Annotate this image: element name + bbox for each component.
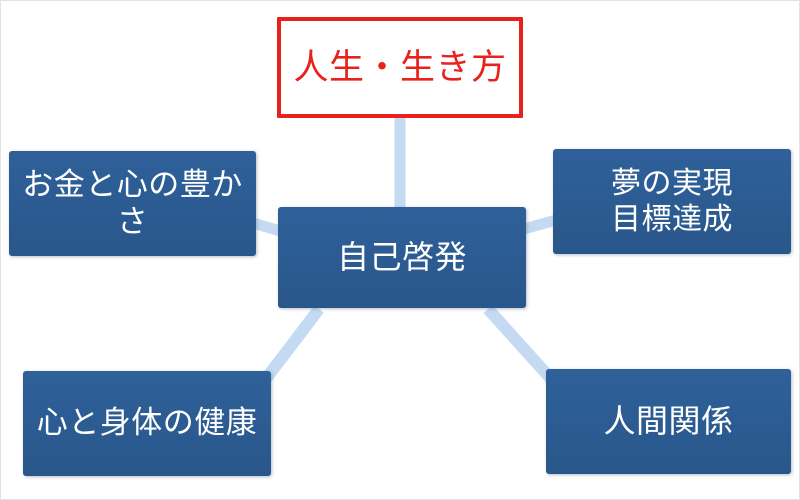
node-money-and-heart-richness[interactable]: お金と心の豊かさ <box>9 151 256 256</box>
connector-center-to-money <box>253 223 280 231</box>
diagram-canvas: 人生・生き方 自己啓発 お金と心の豊かさ 夢の実現 目標達成 心と身体の健康 人… <box>0 0 800 500</box>
node-life-and-way-of-living[interactable]: 人生・生き方 <box>277 17 523 118</box>
node-mind-and-body-health[interactable]: 心と身体の健康 <box>23 371 271 476</box>
connector-center-to-dreams <box>524 220 556 229</box>
node-self-development-center[interactable]: 自己啓発 <box>278 207 526 308</box>
node-life-label: 人生・生き方 <box>293 47 506 88</box>
node-human-relationships[interactable]: 人間関係 <box>546 369 791 474</box>
node-health-label: 心と身体の健康 <box>37 405 258 442</box>
node-dreams-label: 夢の実現 目標達成 <box>611 166 733 237</box>
node-dream-realization-goal-achievement[interactable]: 夢の実現 目標達成 <box>553 149 791 254</box>
connector-center-to-health <box>265 309 319 380</box>
node-money-label: お金と心の豊かさ <box>9 167 256 240</box>
node-relations-label: 人間関係 <box>603 403 733 441</box>
connector-center-to-relations <box>488 309 553 381</box>
node-center-label: 自己啓発 <box>337 239 467 277</box>
